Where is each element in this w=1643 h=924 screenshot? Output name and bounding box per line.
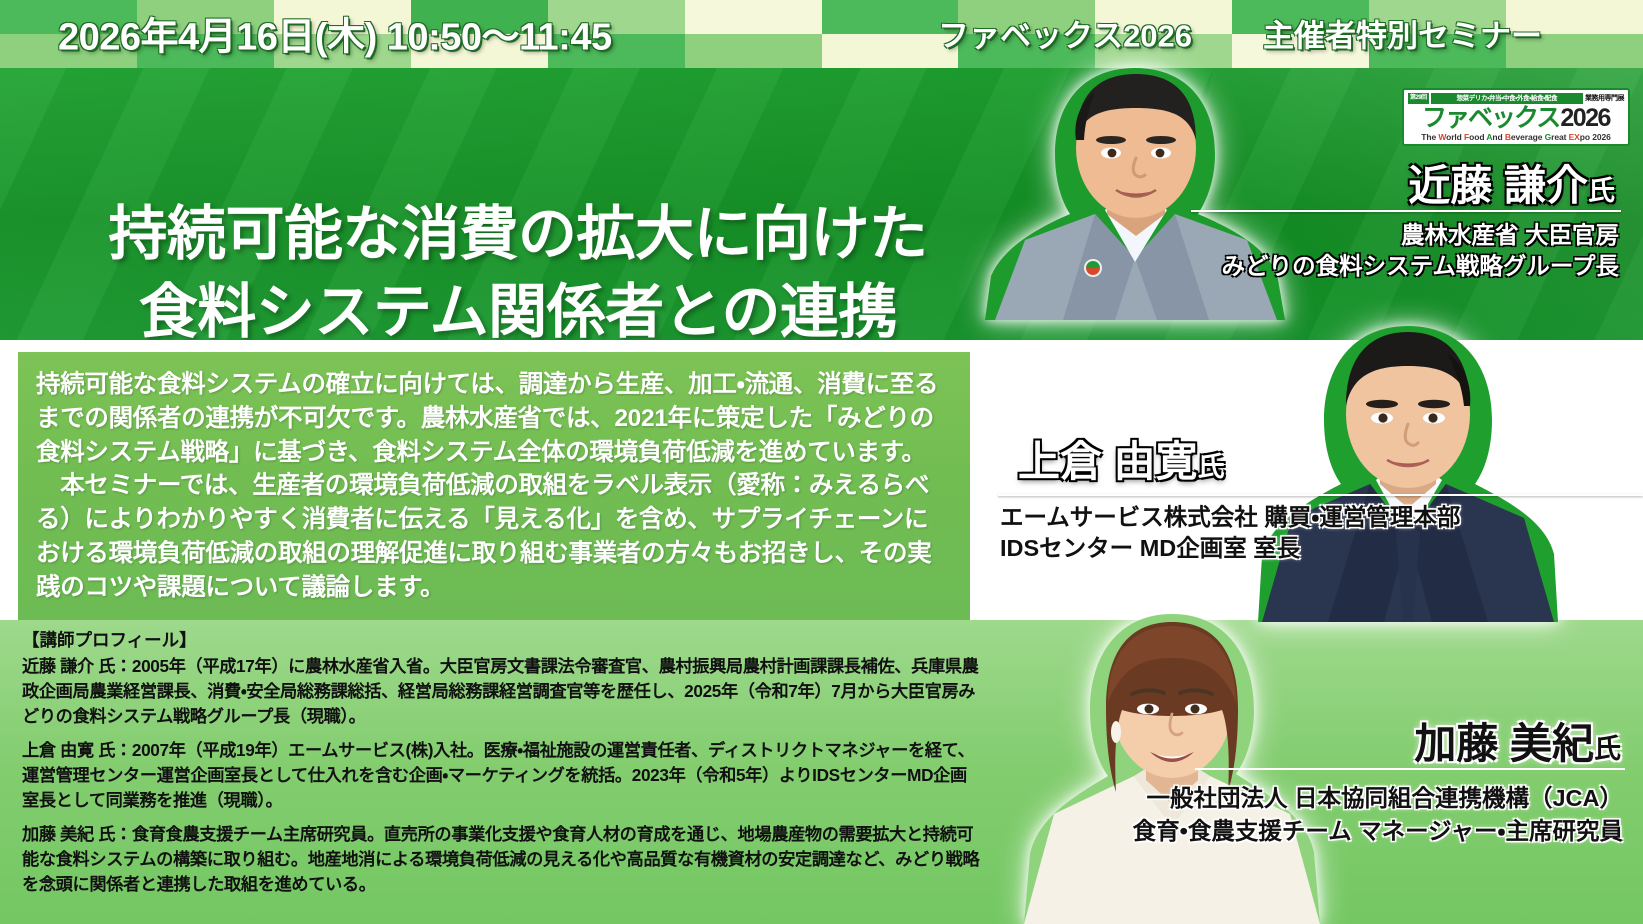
logo-top-row: 第29回 惣菜デリカ・弁当・中食・外食・給食・配食 業務用専門展 [1408,93,1624,104]
divider [998,494,1643,496]
speaker-org-line-1: 農林水産省 大臣官房 [1222,220,1619,251]
speaker-org-line-1: エームサービス株式会社 購買・運営管理本部 [1000,502,1460,533]
speaker-suffix: 氏 [1588,176,1615,206]
logo-categories: 惣菜デリカ・弁当・中食・外食・給食・配食 [1431,93,1583,104]
seminar-type-label: 主催者特別セミナー [1263,11,1542,56]
title-line-2: 食料システム関係者との連携 [38,274,998,340]
profile-heading: 【講師プロフィール】 [22,628,982,653]
profile-entry-kato: 加藤 美紀 氏：食育食農支援チーム主席研究員。直売所の事業化支援や食育人材の育成… [22,822,982,897]
logo-tagline: The World Food And Beverage Great EXpo 2… [1408,132,1624,142]
expo-name: ファベックス2026 [938,11,1192,56]
speaker-suffix: 氏 [1594,734,1621,764]
fabex-logo: 第29回 惣菜デリカ・弁当・中食・外食・給食・配食 業務用専門展 ファベックス2… [1402,88,1630,146]
speaker-block-kato: 加藤 美紀氏 一般社団法人 日本協同組合連携機構（JCA） 食育•食農支援チーム… [960,620,1643,924]
seminar-datetime: 2026年4月16日(木) 10:50〜11:45 [58,5,612,60]
page-title: 持続可能な消費の拡大に向けた 食料システム関係者との連携 [38,196,998,340]
description-paragraph-1: 持続可能な食料システムの確立に向けては、調達から生産、加工・流通、消費に至るまで… [36,368,950,469]
profile-entry-kondo: 近藤 謙介 氏：2005年（平成17年）に農林水産省入省。大臣官房文書課法令審査… [22,654,982,729]
divider [1191,210,1621,212]
speaker-name-kato: 加藤 美紀氏 [1414,710,1621,771]
speaker-org-line-2: IDSセンター MD企画室 室長 [1000,533,1460,564]
logo-year: 2026 [1560,106,1610,131]
title-line-1: 持続可能な消費の拡大に向けた [38,196,998,274]
speaker-org-line-2: みどりの食料システム戦略グループ長 [1222,251,1619,282]
logo-wordmark: ファベックス2026 [1408,106,1624,131]
description-panel: 持続可能な食料システムの確立に向けては、調達から生産、加工・流通、消費に至るまで… [18,352,970,620]
speaker-org-kato: 一般社団法人 日本協同組合連携機構（JCA） 食育•食農支援チーム マネージャー… [1133,782,1623,849]
logo-edition: 第29回 [1408,93,1429,104]
divider [1195,768,1625,770]
speaker-name-kondo: 近藤 謙介氏 [1408,152,1615,213]
logo-pro-label: 業務用専門展 [1585,93,1624,104]
speaker-org-line-1: 一般社団法人 日本協同組合連携機構（JCA） [1133,782,1623,815]
logo-kana: ファベックス [1422,106,1559,131]
speaker-suffix: 氏 [1198,452,1225,482]
seminar-poster: 2026年4月16日(木) 10:50〜11:45 ファベックス2026 主催者… [0,0,1643,924]
speaker-org-kamikura: エームサービス株式会社 購買・運営管理本部 IDSセンター MD企画室 室長 [1000,502,1460,565]
speaker-org-line-2: 食育•食農支援チーム マネージャー・主席研究員 [1133,815,1623,848]
speaker-block-kamikura: 上倉 由寛氏 エームサービス株式会社 購買・運営管理本部 IDSセンター MD企… [960,350,1643,620]
header-band: 2026年4月16日(木) 10:50〜11:45 ファベックス2026 主催者… [0,0,1643,68]
description-paragraph-2: 本セミナーでは、生産者の環境負荷低減の取組をラベル表示（愛称：みえるらべる）によ… [36,469,950,604]
speaker-org-kondo: 農林水産省 大臣官房 みどりの食料システム戦略グループ長 [1222,220,1619,283]
speaker-name-kamikura: 上倉 由寛氏 [1018,428,1225,489]
profile-entry-kamikura: 上倉 由寛 氏：2007年（平成19年）エームサービス(株)入社。医療・福祉施設… [22,738,982,813]
